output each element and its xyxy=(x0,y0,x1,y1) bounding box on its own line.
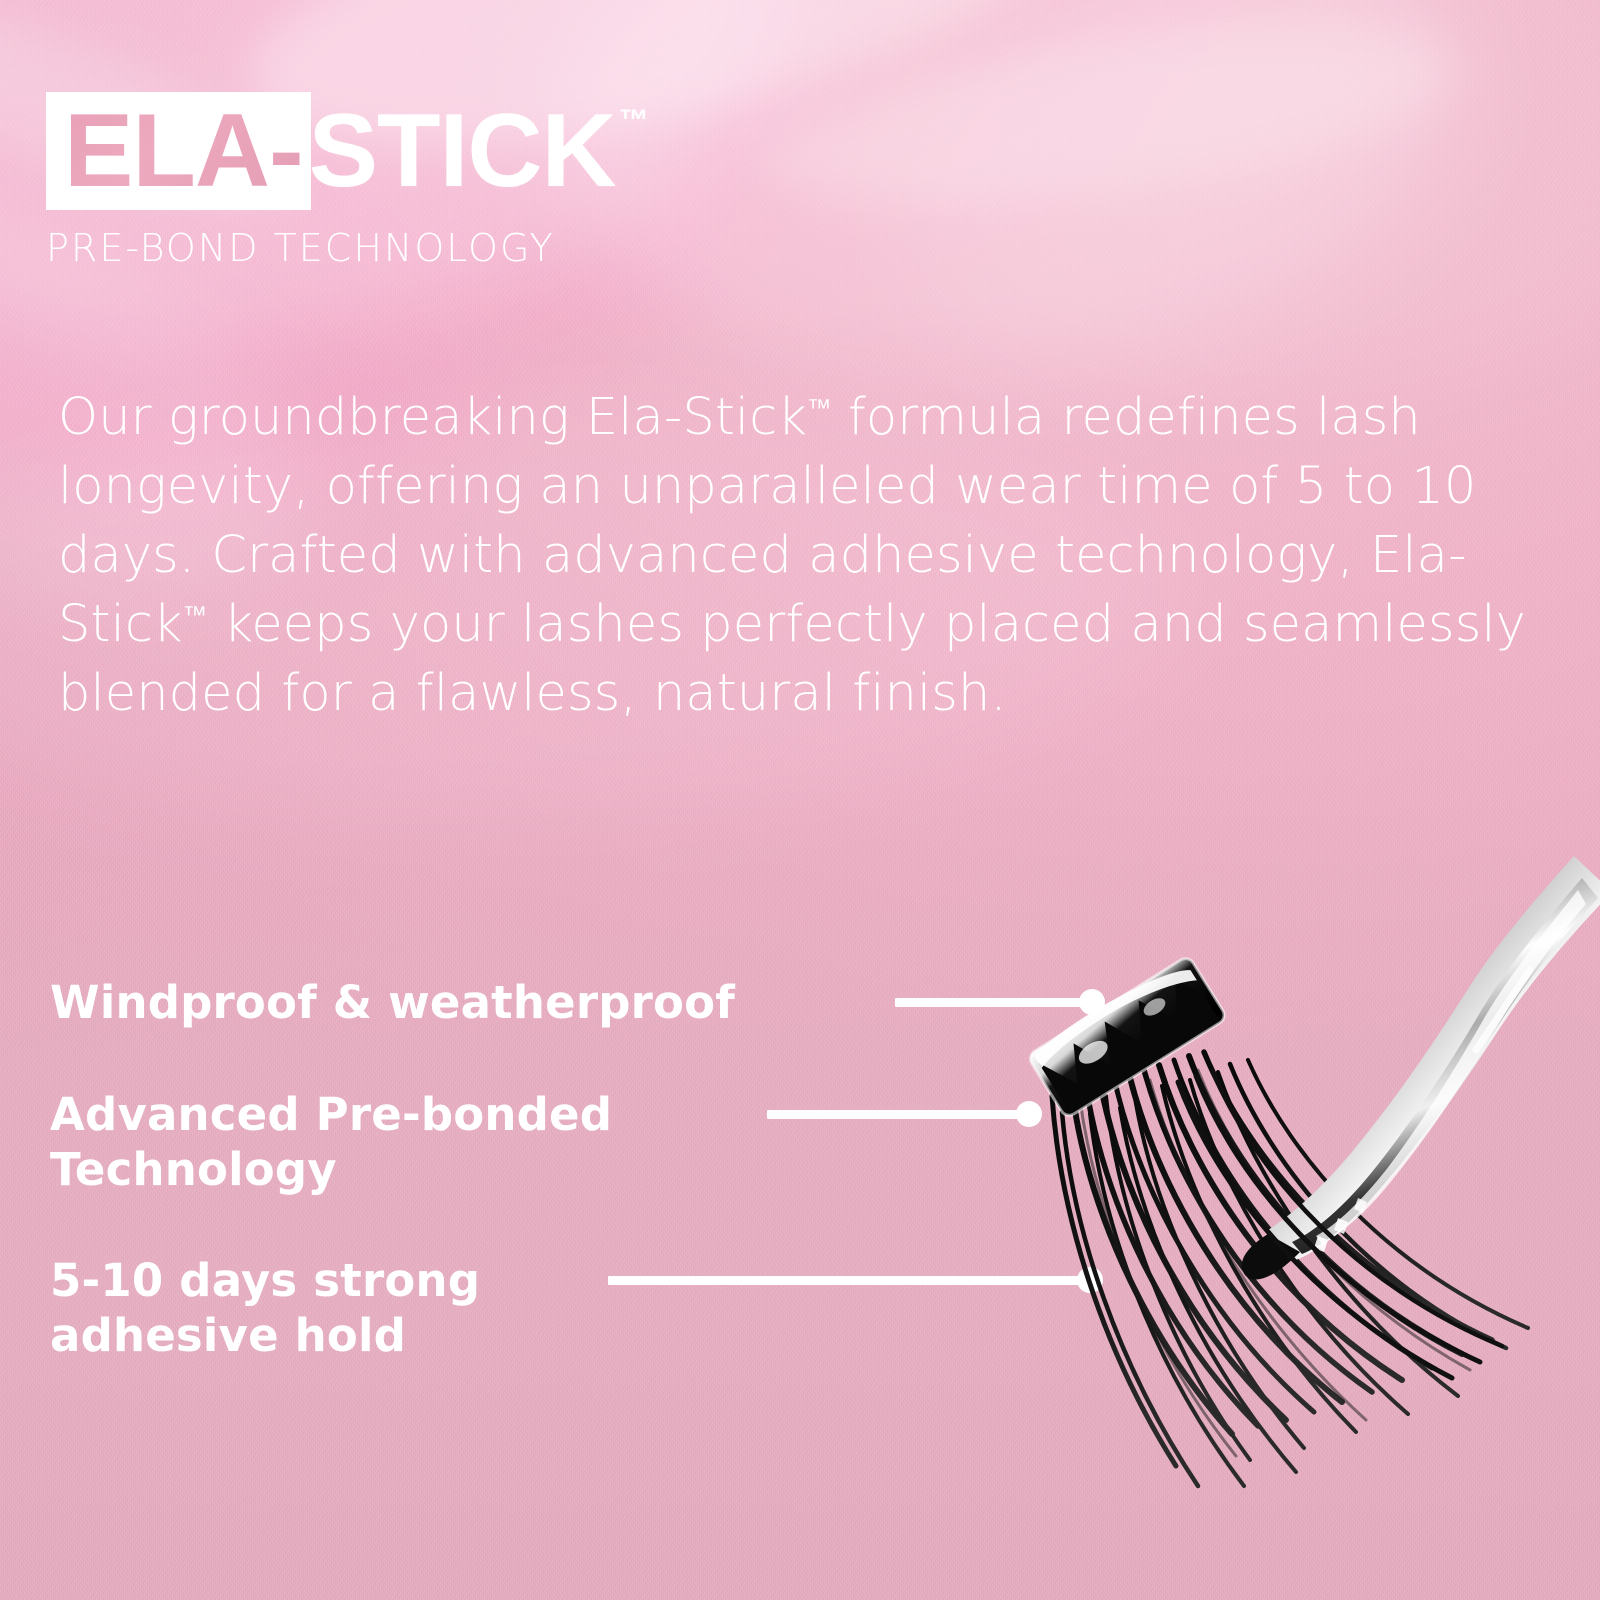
connector-dot-icon xyxy=(1079,989,1105,1015)
feature-label: Windproof & weatherproof xyxy=(50,975,735,1030)
logo-knockout-text: ELA- xyxy=(64,99,303,203)
trademark-icon: ™ xyxy=(807,393,832,422)
brand-logo: ELA- STICK ™ PRE-BOND TECHNOLOGY xyxy=(46,92,648,270)
feature-connector xyxy=(767,1109,1042,1119)
connector-dot-icon xyxy=(1077,1267,1103,1293)
logo-outer-text-group: STICK ™ xyxy=(309,92,648,210)
connector-line xyxy=(767,1110,1018,1119)
brand-tagline: PRE-BOND TECHNOLOGY xyxy=(46,226,648,270)
trademark-icon: ™ xyxy=(183,600,208,629)
paragraph-part-1: Our groundbreaking Ela-Stick xyxy=(58,388,807,447)
feature-item: Windproof & weatherproof xyxy=(50,975,1110,1035)
logo-knockout-box: ELA- xyxy=(46,92,311,210)
feature-connector xyxy=(895,997,1105,1007)
feature-item: 5-10 days strong adhesive hold xyxy=(50,1253,1110,1373)
feature-list: Windproof & weatherproof Advanced Pre-bo… xyxy=(50,975,1110,1373)
feature-connector xyxy=(608,1275,1103,1285)
logo-outer-text: STICK xyxy=(309,92,616,210)
trademark-icon: ™ xyxy=(619,106,648,136)
connector-line xyxy=(895,998,1081,1007)
feature-item: Advanced Pre-bonded Technology xyxy=(50,1087,1110,1207)
connector-line xyxy=(608,1276,1079,1285)
feature-label: Advanced Pre-bonded Technology xyxy=(50,1087,612,1197)
description-paragraph: Our groundbreaking Ela-Stick™ formula re… xyxy=(58,383,1528,728)
feature-label: 5-10 days strong adhesive hold xyxy=(50,1253,480,1363)
connector-dot-icon xyxy=(1016,1101,1042,1127)
paragraph-part-3: keeps your lashes perfectly placed and s… xyxy=(58,595,1526,723)
promo-graphic: ELA- STICK ™ PRE-BOND TECHNOLOGY Our gro… xyxy=(0,0,1600,1600)
